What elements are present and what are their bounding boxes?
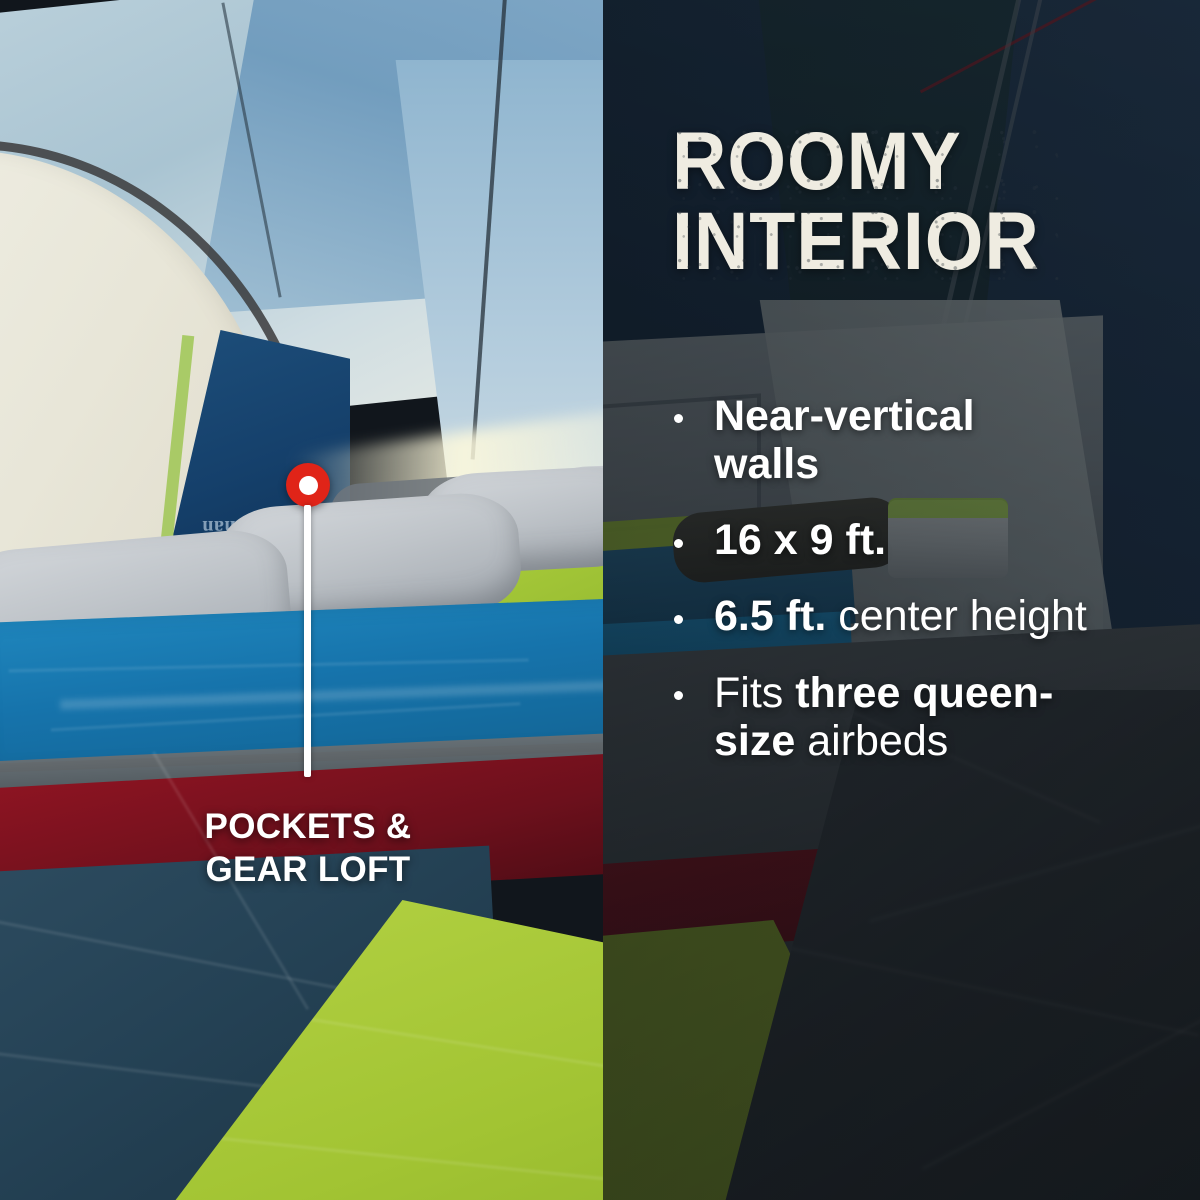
headline-line-2: INTERIOR [672,202,1058,282]
callout-marker-icon [286,463,330,507]
feature-text: Fits three queen-size airbeds [714,669,1053,765]
callout-label: POCKETS & GEAR LOFT [128,806,488,891]
feature-list: Near-vertical walls 16 x 9 ft. 6.5 ft. c… [668,392,1088,793]
list-item: Fits three queen-size airbeds [668,669,1088,765]
bullet-dot-icon [674,615,683,624]
callout-label-line-1: POCKETS & [128,806,488,849]
feature-text: 6.5 ft. center height [714,592,1087,640]
list-item: 6.5 ft. center height [668,592,1088,640]
callout-marker-core [299,476,318,495]
bullet-dot-icon [674,414,683,423]
list-item: 16 x 9 ft. [668,516,1088,564]
bullet-dot-icon [674,539,683,548]
callout-label-line-2: GEAR LOFT [128,849,488,892]
callout-leader-line [304,505,311,777]
bullet-dot-icon [674,691,683,700]
product-feature-graphic: Coleman [0,0,1200,1200]
headline-line-1: ROOMY [672,122,1058,202]
feature-text: 16 x 9 ft. [714,516,886,564]
feature-text: Near-vertical walls [714,392,975,488]
list-item: Near-vertical walls [668,392,1088,488]
headline: ROOMY INTERIOR [672,122,1058,283]
